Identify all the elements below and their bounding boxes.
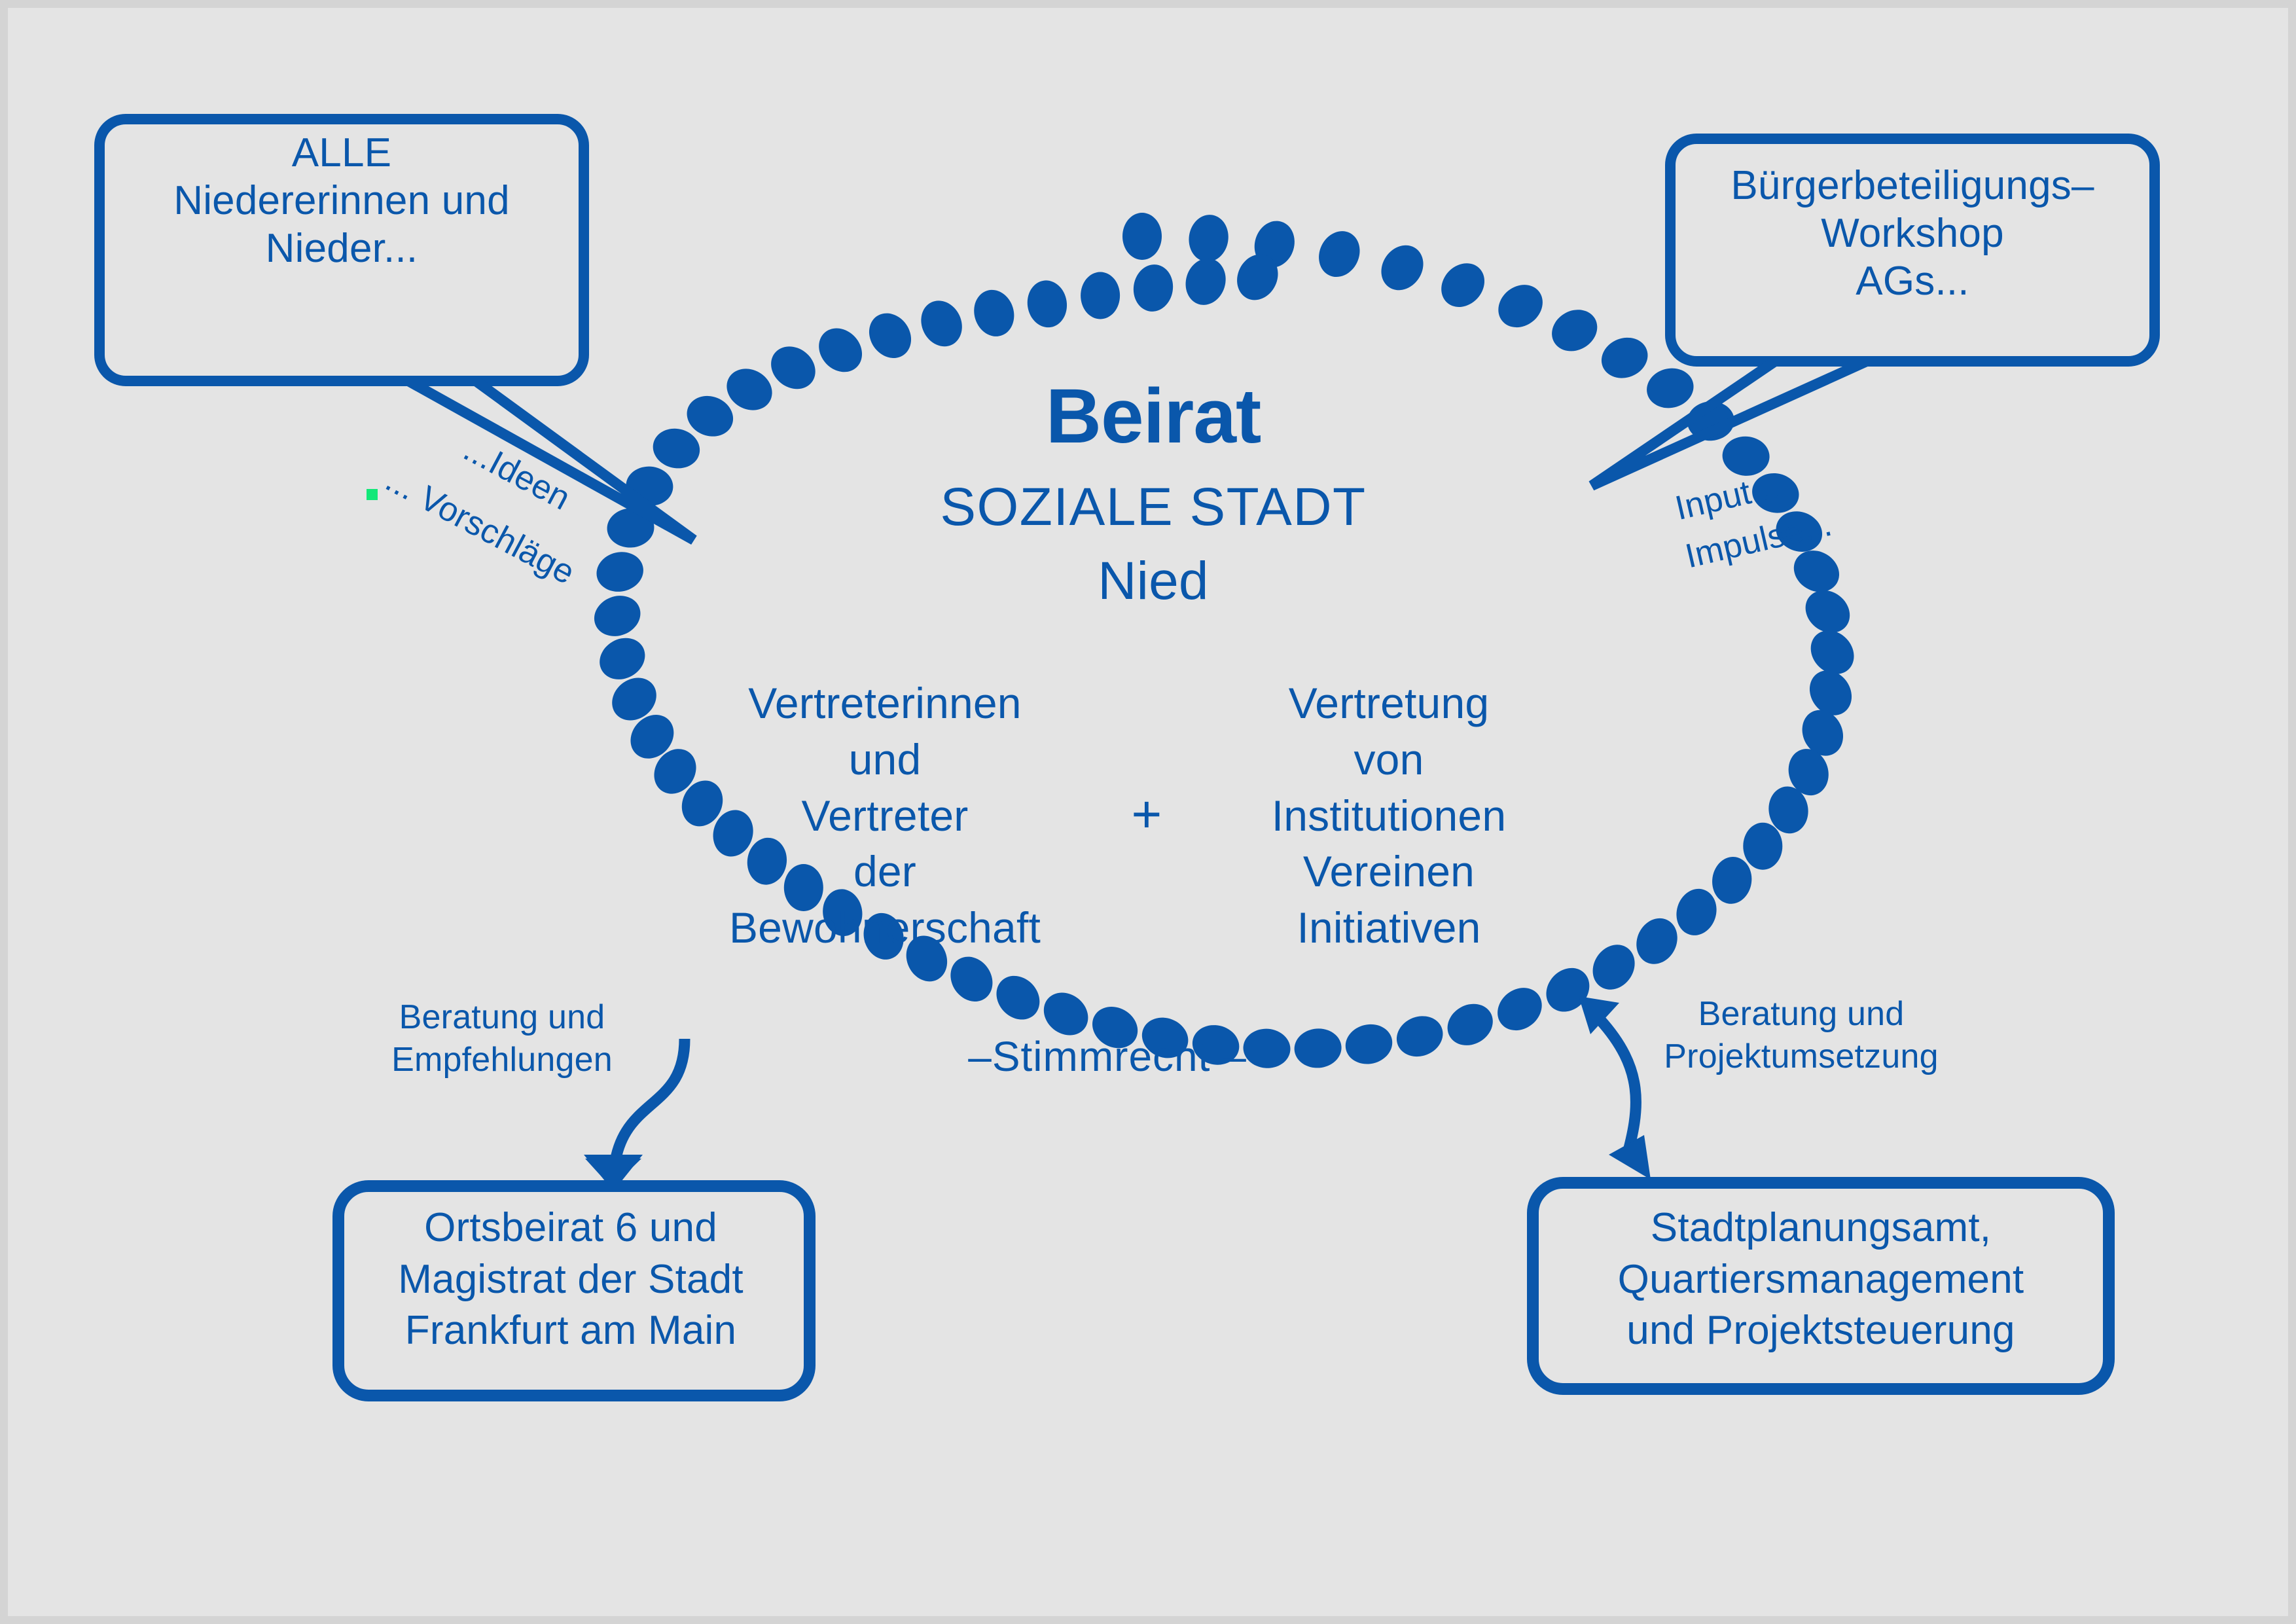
center-title: Beirat [787, 371, 1520, 462]
center-column-right: Vertretung von Institutionen Vereinen In… [1206, 676, 1572, 956]
annotation-beratung-projektumsetzung: Beratung und Projektumsetzung [1638, 993, 1965, 1078]
bubble-top-left-label: ALLE Niedererinnen und Nieder... [99, 129, 584, 272]
diagram-canvas: ALLE Niedererinnen und Nieder... Bürgerb… [0, 0, 2296, 1624]
annotation-beratung-empfehlungen: Beratung und Empfehlungen [348, 996, 656, 1081]
center-subtitle-line2: Nied [787, 550, 1520, 613]
green-marker-dot [367, 489, 378, 500]
arrow-right-double [1600, 1019, 1636, 1160]
box-bottom-left-label: Ortsbeirat 6 und Magistrat der Stadt Fra… [335, 1202, 806, 1357]
center-subtitle-line1: SOZIALE STADT [787, 476, 1520, 539]
center-column-left: Vertreterinnen und Vertreter der Bewohne… [682, 676, 1088, 956]
bubble-top-right-label: Bürgerbeteiligungs– Workshop AGs... [1670, 162, 2155, 305]
center-plus-sign: + [1088, 784, 1206, 845]
box-bottom-right-label: Stadtplanungsamt, Quartiersmanagement un… [1533, 1202, 2109, 1357]
center-footer-stimmrecht: –Stimmrecht – [918, 1032, 1297, 1082]
